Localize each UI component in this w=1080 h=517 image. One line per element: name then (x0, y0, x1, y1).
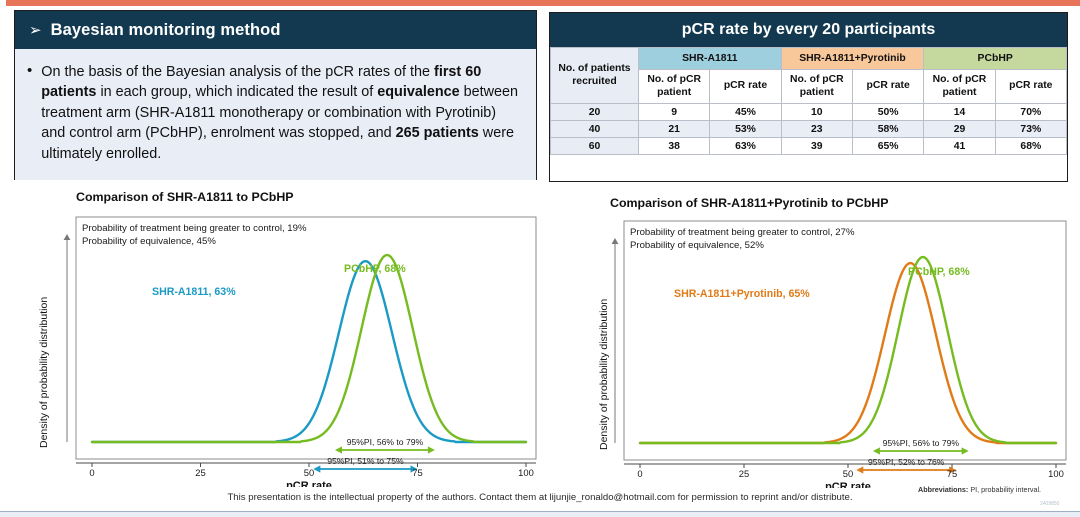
chart-right: Comparison of SHR-A1811+Pyrotinib to PCb… (596, 196, 1070, 491)
x-axis-label: pCR rate (286, 480, 332, 487)
emphasis-text: 265 patients (396, 125, 479, 141)
table-cell-recruited: 20 (551, 104, 639, 121)
table-cell: 23 (781, 121, 852, 138)
chart-right-title: Comparison of SHR-A1811+Pyrotinib to PCb… (596, 196, 1070, 210)
chart-left-ylabel: Density of probability distribution (38, 238, 50, 448)
group-header-pcbhp: PCbHP (924, 48, 1067, 70)
top-stripe-gap (0, 0, 6, 6)
chart-annotation: Probability of treatment being greater t… (630, 227, 855, 238)
slide-root: ➢ Bayesian monitoring method • On the ba… (0, 0, 1080, 517)
subheader-rate-shr: pCR rate (710, 70, 781, 104)
chart-left-title: Comparison of SHR-A1811 to PCbHP (14, 190, 544, 204)
pcr-table-panel: pCR rate by every 20 participants No. of… (549, 12, 1068, 182)
abbreviations-note: Abbreviations: PI, probability interval. (918, 485, 1041, 494)
table-cell: 70% (995, 104, 1066, 121)
pcr-group-header-row: No. of patients recruited SHR-A1811 SHR-… (551, 48, 1067, 70)
pi-label: 95%PI, 56% to 79% (883, 438, 960, 448)
plot-frame (624, 221, 1066, 460)
table-cell: 9 (639, 104, 710, 121)
chart-annotation: Probability of treatment being greater t… (82, 223, 307, 234)
pcr-table: No. of patients recruited SHR-A1811 SHR-… (550, 47, 1067, 155)
group-header-shr-pyrotinib: SHR-A1811+Pyrotinib (781, 48, 924, 70)
plot-frame (76, 217, 536, 459)
pi-label: 95%PI, 52% to 76% (868, 457, 945, 467)
bottom-rule (0, 511, 1080, 517)
table-cell-recruited: 60 (551, 138, 639, 155)
top-accent-stripe (0, 0, 1080, 6)
table-cell: 41 (924, 138, 995, 155)
x-axis-tick-label: 50 (843, 468, 853, 479)
subheader-rate-pcbhp: pCR rate (995, 70, 1066, 104)
x-axis-tick-label: 75 (412, 467, 422, 478)
table-cell: 38 (639, 138, 710, 155)
chart-left-plot: Probability of treatment being greater t… (14, 207, 544, 487)
x-axis-tick-label: 25 (195, 467, 205, 478)
abbreviations-text: PI, probability interval. (968, 485, 1041, 494)
emphasis-text: equivalence (377, 84, 459, 100)
chart-annotation: Probability of equivalence, 45% (82, 236, 216, 247)
x-axis-tick-label: 0 (637, 468, 642, 479)
chart-right-plot: Probability of treatment being greater t… (596, 213, 1070, 488)
abbreviations-label: Abbreviations: (918, 485, 968, 494)
x-axis-tick-label: 25 (739, 468, 749, 479)
body-text-run: in each group, which indicated the resul… (96, 84, 377, 100)
body-text-run: On the basis of the Bayesian analysis of… (41, 64, 434, 80)
arrow-bullet-icon: ➢ (29, 23, 42, 38)
table-cell: 53% (710, 121, 781, 138)
bayesian-body-text: On the basis of the Bayesian analysis of… (41, 62, 522, 180)
bayesian-panel-header: ➢ Bayesian monitoring method (15, 11, 536, 49)
corner-code: 2409850 (1040, 501, 1059, 507)
x-axis-tick-label: 0 (89, 467, 94, 478)
table-row: 20945%1050%1470% (551, 104, 1067, 121)
chart-left: Comparison of SHR-A1811 to PCbHP Density… (14, 190, 544, 490)
dot-bullet-icon: • (27, 62, 41, 180)
bayesian-panel-body: • On the basis of the Bayesian analysis … (15, 49, 536, 180)
x-axis-tick-label: 75 (947, 468, 957, 479)
pcr-table-title: pCR rate by every 20 participants (550, 13, 1067, 47)
table-cell: 10 (781, 104, 852, 121)
x-axis-tick-label: 50 (304, 467, 314, 478)
table-cell: 58% (852, 121, 923, 138)
table-cell: 39 (781, 138, 852, 155)
subheader-npcr-pcbhp: No. of pCR patient (924, 70, 995, 104)
pi-label: 95%PI, 56% to 79% (347, 437, 424, 447)
x-axis-label: pCR rate (825, 481, 871, 488)
y-axis-arrow-head (64, 234, 71, 240)
table-cell: 65% (852, 138, 923, 155)
table-cell: 50% (852, 104, 923, 121)
pi-arrow-left (856, 466, 863, 473)
series-label: SHR-A1811, 63% (152, 286, 236, 298)
subheader-npcr-shr: No. of pCR patient (639, 70, 710, 104)
bayesian-panel: ➢ Bayesian monitoring method • On the ba… (14, 10, 537, 180)
pcr-table-body: 20945%1050%1470%402153%2358%2973%603863%… (551, 104, 1067, 155)
table-cell: 68% (995, 138, 1066, 155)
x-axis-tick-label: 100 (1048, 468, 1064, 479)
series-label: SHR-A1811+Pyrotinib, 65% (674, 288, 810, 300)
bayesian-panel-title: Bayesian monitoring method (51, 21, 281, 40)
table-cell: 14 (924, 104, 995, 121)
pi-label: 95%PI, 51% to 75% (327, 456, 404, 466)
group-header-shr: SHR-A1811 (639, 48, 782, 70)
table-cell: 73% (995, 121, 1066, 138)
y-axis-arrow-head (612, 238, 619, 244)
subheader-rate-combo: pCR rate (852, 70, 923, 104)
table-cell: 29 (924, 121, 995, 138)
table-cell: 45% (710, 104, 781, 121)
pi-arrow-left (313, 465, 320, 472)
chart-right-ylabel: Density of probability distribution (598, 240, 610, 450)
series-label: PCbHP, 68% (908, 266, 970, 278)
series-label: PCbHP, 68% (344, 263, 406, 275)
row-header-label: No. of patients recruited (551, 48, 639, 104)
pcr-table-head: No. of patients recruited SHR-A1811 SHR-… (551, 48, 1067, 104)
table-row: 603863%3965%4168% (551, 138, 1067, 155)
chart-annotation: Probability of equivalence, 52% (630, 240, 764, 251)
x-axis-tick-label: 100 (518, 467, 534, 478)
subheader-npcr-combo: No. of pCR patient (781, 70, 852, 104)
table-cell: 63% (710, 138, 781, 155)
table-cell-recruited: 40 (551, 121, 639, 138)
table-row: 402153%2358%2973% (551, 121, 1067, 138)
table-cell: 21 (639, 121, 710, 138)
